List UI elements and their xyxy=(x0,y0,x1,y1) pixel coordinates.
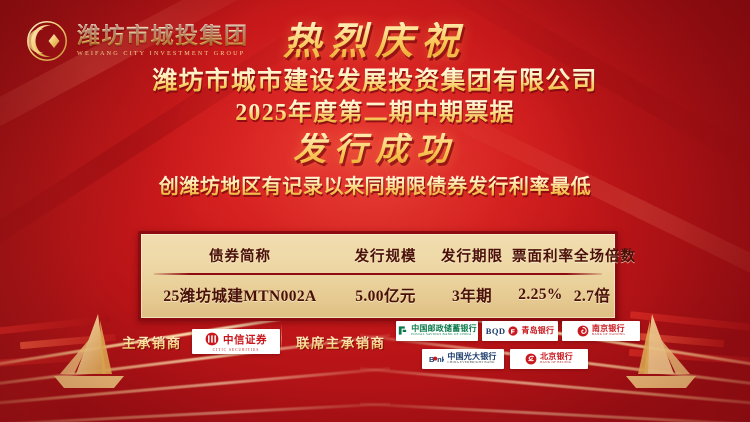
bqd-name-cn: 青岛银行 xyxy=(521,327,554,335)
joint-underwriter-label: 联席主承销商 xyxy=(296,332,385,352)
headline-group: 热烈庆祝 潍坊市城市建设发展投资集团有限公司 2025年度第二期中期票据 发行成… xyxy=(0,22,750,200)
table-header-row: 债券简称 发行规模 发行期限 票面利率 全场倍数 xyxy=(141,237,615,273)
psbc-icon xyxy=(397,325,408,336)
celebration-banner: 潍坊市城投集团 WEIFANG CITY INVESTMENT GROUP 热烈… xyxy=(0,0,750,422)
citic-circle-icon xyxy=(205,332,219,346)
sailboat-icon xyxy=(46,310,142,396)
nanjing-flower-icon xyxy=(577,325,589,337)
table-header-cell: 票面利率 xyxy=(512,237,574,273)
everbright-name-en: CHINA EVERBRIGHT BANK xyxy=(447,361,496,365)
table-header-cell: 发行期限 xyxy=(432,237,512,273)
underwriter-separator xyxy=(281,323,282,353)
underwriter-logo-bqd: BQD 青岛银行 xyxy=(482,321,558,341)
headline-record: 创潍坊地区有记录以来同期限债券发行利率最低 xyxy=(0,174,750,200)
table-header-cell: 发行规模 xyxy=(339,237,432,273)
table-cell-issue-term: 3年期 xyxy=(432,275,512,314)
citic-name-cn: 中信证券 xyxy=(223,332,267,347)
everbright-bank-icon: B nk xyxy=(429,354,444,364)
beijing-bank-icon xyxy=(525,353,537,365)
headline-celebrate: 热烈庆祝 xyxy=(0,22,750,63)
bond-details-table: 债券简称 发行规模 发行期限 票面利率 全场倍数 25潍坊城建MTN002A 5… xyxy=(138,231,618,321)
table-cell-coupon-rate: 2.25% xyxy=(512,277,569,312)
table-header-cell: 债券简称 xyxy=(141,237,339,273)
underwriter-logo-everbright: B nk 中国光大银行 CHINA EVERBRIGHT BANK xyxy=(422,349,504,369)
underwriter-logo-psbc: 中国邮政储蓄银行 POSTAL SAVINGS BANK OF CHINA xyxy=(396,321,478,341)
nanjing-name-en: BANK OF NANJING xyxy=(592,333,625,337)
table-header-cell: 全场倍数 xyxy=(574,237,636,273)
table-cell-subscription-multiple: 2.7倍 xyxy=(569,275,615,314)
psbc-name-en: POSTAL SAVINGS BANK OF CHINA xyxy=(411,333,477,337)
headline-success: 发行成功 xyxy=(0,133,750,169)
bqd-icon xyxy=(508,326,518,336)
svg-text:nk: nk xyxy=(437,355,444,364)
table-cell-issue-size: 5.00亿元 xyxy=(339,275,432,314)
underwriter-logo-nanjing: 南京银行 BANK OF NANJING xyxy=(562,321,640,341)
underwriter-logo-beijing: 北京银行 BANK OF BEIJING xyxy=(510,349,588,369)
table-cell-bond-name: 25潍坊城建MTN002A xyxy=(141,275,339,314)
lead-underwriter-label: 主承销商 xyxy=(122,332,182,352)
bqd-name-en: BQD xyxy=(486,326,506,336)
headline-issue: 2025年度第二期中期票据 xyxy=(0,99,750,128)
table-row: 25潍坊城建MTN002A 5.00亿元 3年期 2.25% 2.7倍 xyxy=(141,275,615,314)
underwriter-logo-citic: 中信证券 CITIC SECURITIES xyxy=(192,329,280,354)
citic-name-en: CITIC SECURITIES xyxy=(213,348,260,352)
headline-company: 潍坊市城市建设发展投资集团有限公司 xyxy=(0,67,750,98)
beijing-name-en: BANK OF BEIJING xyxy=(540,361,573,365)
